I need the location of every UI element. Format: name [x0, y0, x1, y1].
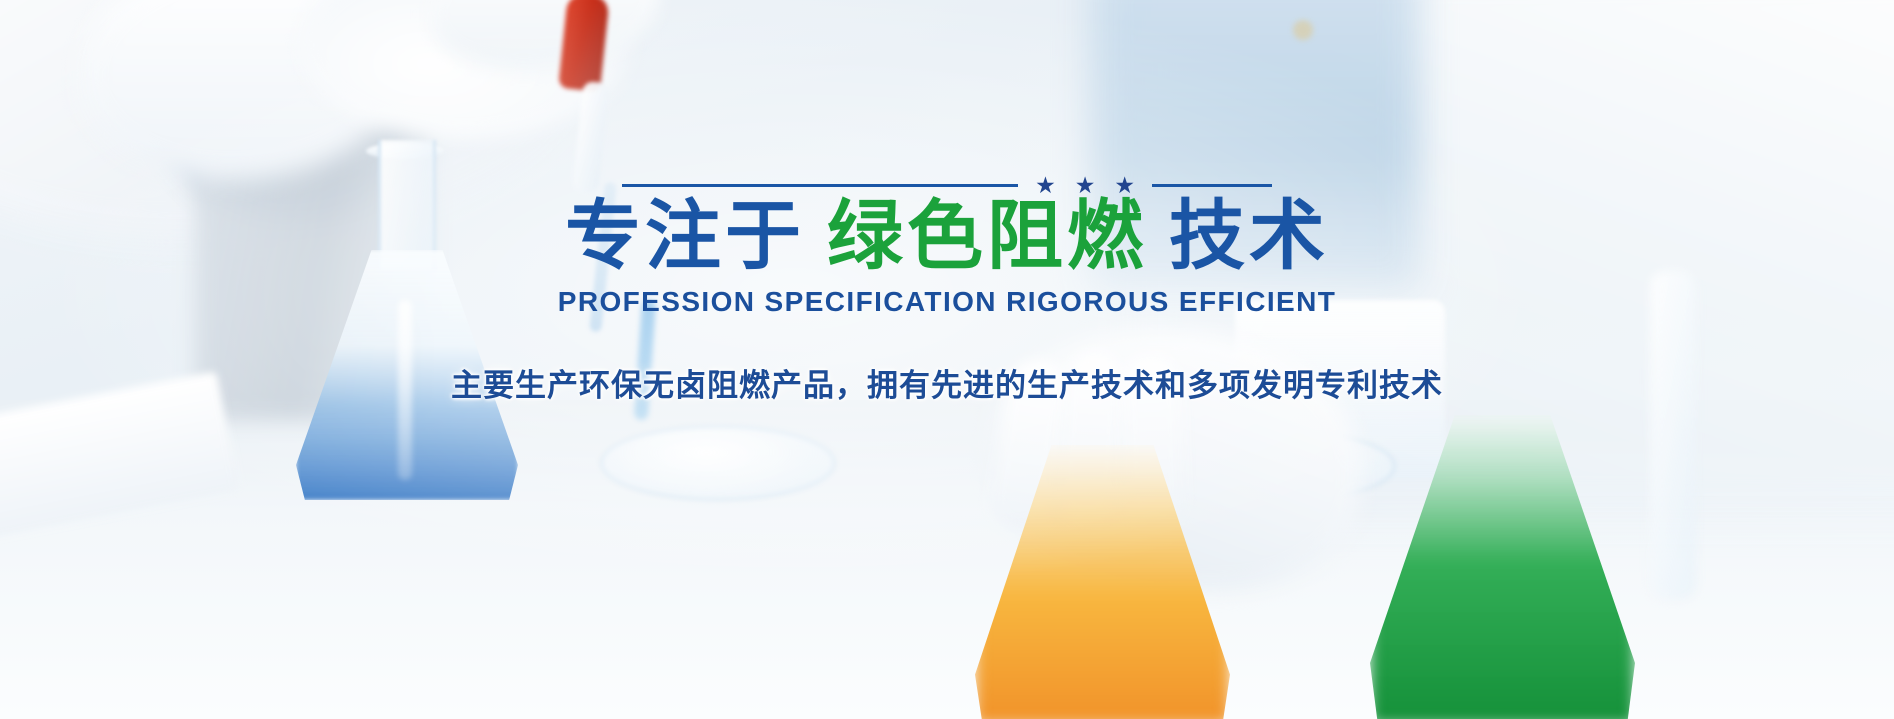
subtitle-english: PROFESSION SPECIFICATION RIGOROUS EFFICI…	[558, 286, 1336, 318]
headline-part-1: 专注于	[565, 191, 805, 280]
page-title: 专注于绿色阻燃技术	[565, 198, 1329, 274]
subtitle-chinese: 主要生产环保无卤阻燃产品，拥有先进的生产技术和多项发明专利技术	[451, 360, 1443, 405]
rule-line-left	[622, 184, 1018, 187]
headline-part-3: 技术	[1169, 191, 1329, 280]
headline-part-2: 绿色阻燃	[827, 191, 1147, 280]
rule-line-right	[1152, 184, 1272, 187]
banner-content: ★ ★ ★ 专注于绿色阻燃技术 PROFESSION SPECIFICATION…	[0, 0, 1894, 719]
hero-banner: ★ ★ ★ 专注于绿色阻燃技术 PROFESSION SPECIFICATION…	[0, 0, 1894, 719]
